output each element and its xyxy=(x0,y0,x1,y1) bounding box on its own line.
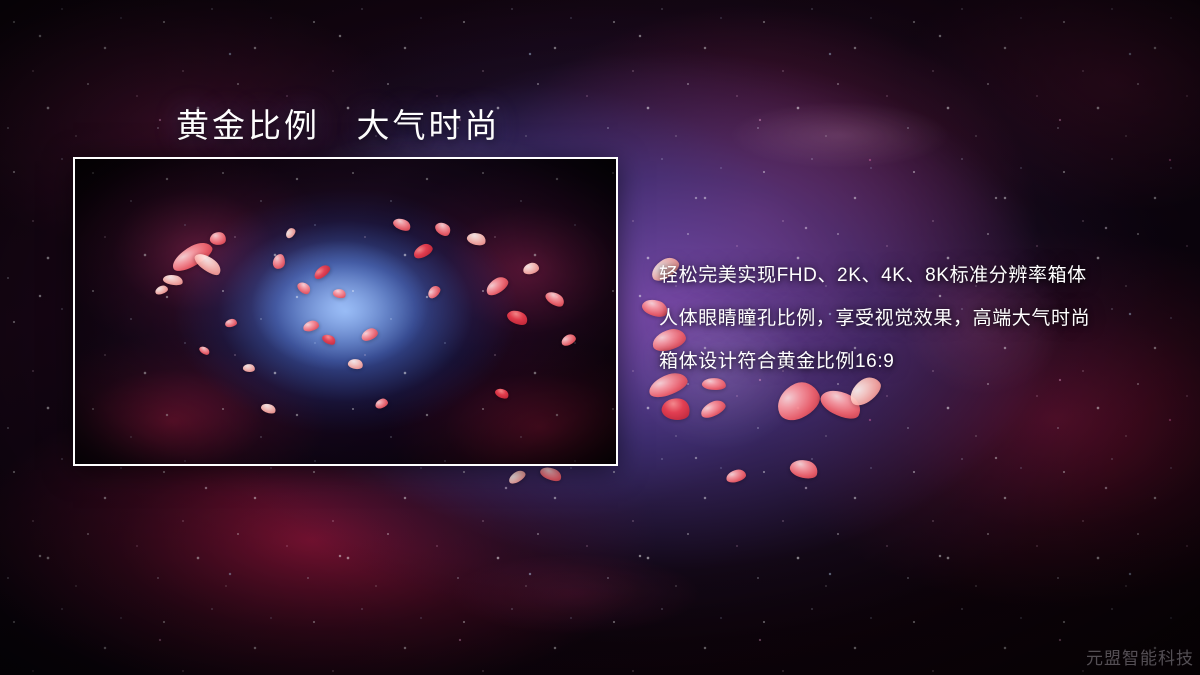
petal-shape xyxy=(154,284,169,295)
petal-shape xyxy=(788,456,820,482)
petal-shape xyxy=(209,231,227,246)
petal-shape xyxy=(347,357,364,370)
petal-shape xyxy=(360,326,380,342)
body-line-3: 箱体设计符合黄金比例16:9 xyxy=(659,340,1159,383)
petal-shape xyxy=(817,384,865,425)
petal-shape xyxy=(302,319,320,332)
petal-shape xyxy=(321,332,338,347)
petal-shape xyxy=(539,464,564,484)
petal-shape xyxy=(483,274,511,298)
petal-shape xyxy=(522,262,540,276)
petal-shape xyxy=(698,398,727,421)
petal-shape xyxy=(411,241,434,260)
presentation-slide: 黄金比例 大气时尚 轻松完美实现FHD、2K、4K、8K标准分辨率箱体 人体眼睛… xyxy=(0,0,1200,675)
petal-shape xyxy=(332,287,347,300)
petal-shape xyxy=(494,386,511,401)
petal-shape xyxy=(192,249,224,279)
petal-shape xyxy=(260,402,277,416)
body-line-1: 轻松完美实现FHD、2K、4K、8K标准分辨率箱体 xyxy=(659,254,1159,297)
photo-nebula-layer xyxy=(75,159,616,464)
petal-shape xyxy=(272,254,285,270)
petal-shape xyxy=(391,216,412,234)
petal-shape xyxy=(505,307,530,328)
petal-shape xyxy=(725,468,747,484)
petal-shape xyxy=(507,468,528,485)
petal-shape xyxy=(374,397,389,410)
petal-shape xyxy=(433,219,453,238)
petal-shape xyxy=(295,280,312,297)
petal-shape xyxy=(284,226,297,239)
watermark-text: 元盟智能科技 xyxy=(1086,644,1194,669)
petal-shape xyxy=(225,318,238,328)
petal-shape xyxy=(543,288,566,309)
petal-shape xyxy=(560,333,578,348)
body-text-block: 轻松完美实现FHD、2K、4K、8K标准分辨率箱体 人体眼睛瞳孔比例，享受视觉效… xyxy=(659,254,1159,383)
petal-shape xyxy=(771,377,825,426)
slide-title: 黄金比例 大气时尚 xyxy=(176,99,501,147)
petal-shape xyxy=(162,273,184,287)
body-line-2: 人体眼睛瞳孔比例，享受视觉效果，高端大气时尚 xyxy=(659,297,1159,340)
petal-shape xyxy=(168,238,216,275)
framed-photo xyxy=(73,157,618,466)
petal-shape xyxy=(660,395,692,423)
petal-shape xyxy=(242,363,255,373)
petal-shape xyxy=(312,263,333,281)
petal-shape xyxy=(198,344,211,356)
photo-starfield-layer xyxy=(75,159,616,464)
petal-shape xyxy=(466,230,488,247)
photo-vignette xyxy=(75,159,616,464)
petal-shape xyxy=(425,284,442,301)
